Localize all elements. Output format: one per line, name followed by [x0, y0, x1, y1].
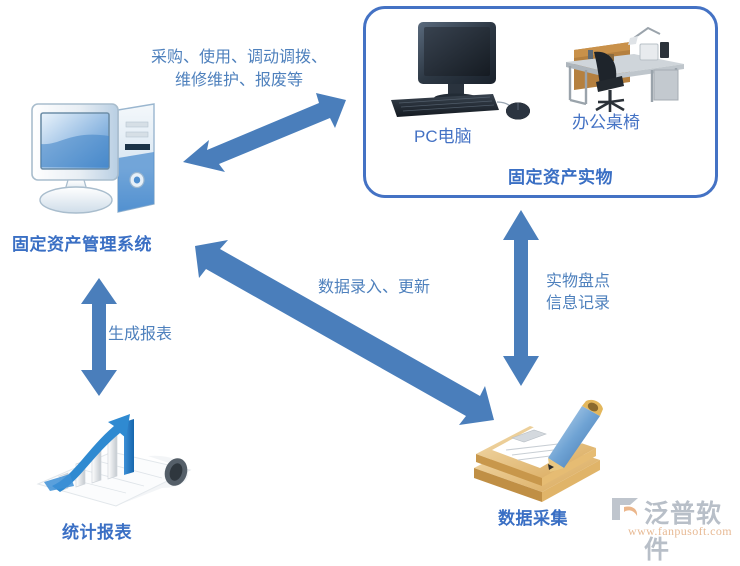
bar-chart-report-icon — [30, 392, 230, 522]
watermark-url: www.fanpusoft.com — [628, 524, 732, 539]
flow-label-system-assets-line1: 采购、使用、调动调拨、 — [124, 48, 354, 68]
flow-label-system-assets-line2: 维修维护、报废等 — [124, 71, 354, 91]
diagram-canvas: 采购、使用、调动调拨、 维修维护、报废等 生成报表 数据录入、更新 实物盘点 信… — [0, 0, 740, 558]
asset-item-label-pc: PC电脑 — [414, 126, 472, 147]
node-label-reports: 统计报表 — [62, 522, 132, 543]
lcd-monitor-keyboard-icon — [385, 18, 535, 128]
flow-label-system-capture: 数据录入、更新 — [318, 278, 430, 298]
arrow-system-assets — [183, 88, 348, 178]
flow-label-assets-capture-line1: 实物盘点 — [546, 272, 610, 292]
node-label-assets: 固定资产实物 — [508, 167, 613, 188]
office-desk-chair-icon — [556, 24, 696, 116]
node-label-system: 固定资产管理系统 — [12, 234, 152, 255]
clipboard-pen-icon — [466, 392, 608, 504]
flow-label-system-reports: 生成报表 — [108, 325, 172, 345]
arrow-system-capture — [195, 238, 495, 428]
desktop-computer-icon — [26, 96, 172, 222]
arrow-assets-capture — [503, 210, 539, 386]
watermark: 泛普软件 www.fanpusoft.com — [608, 492, 738, 548]
node-label-capture: 数据采集 — [498, 508, 568, 529]
fanpu-logo-icon — [608, 494, 642, 524]
asset-item-label-desk: 办公桌椅 — [572, 112, 640, 133]
flow-label-assets-capture-line2: 信息记录 — [546, 294, 610, 314]
